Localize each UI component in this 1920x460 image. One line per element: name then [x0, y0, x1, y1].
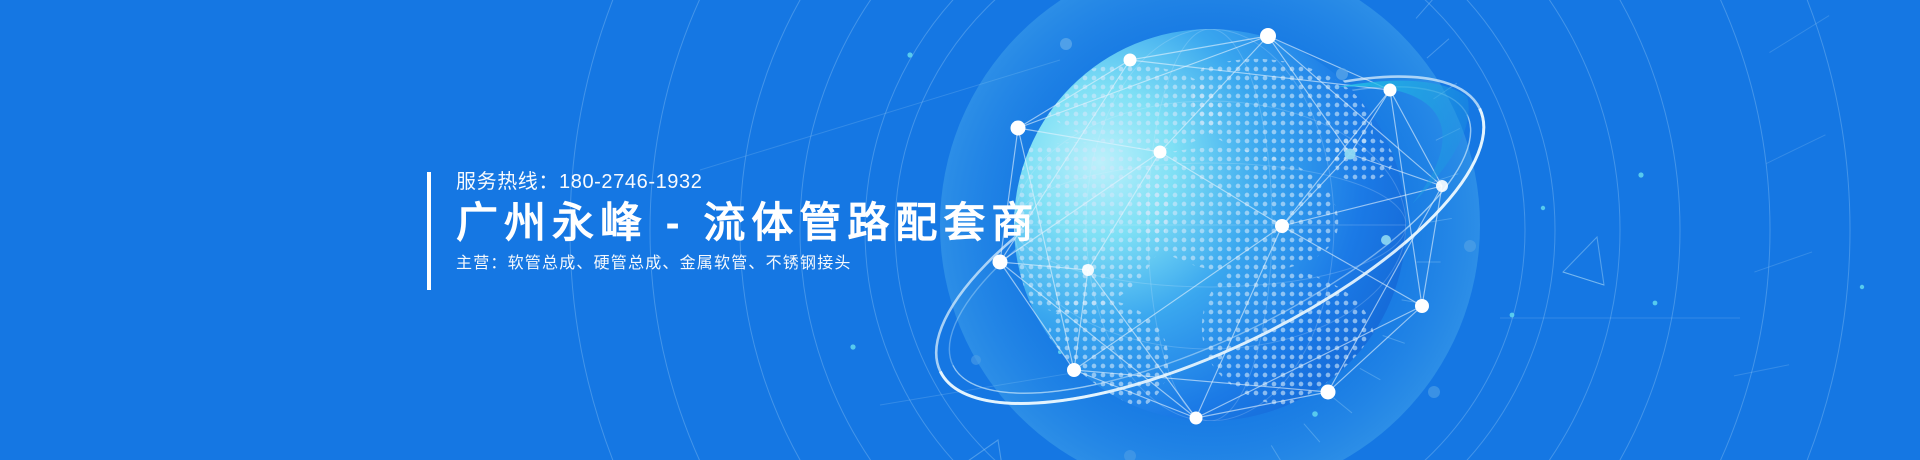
wireframe-triangle — [1043, 150, 1107, 205]
page-title: 广州永峰 - 流体管路配套商 — [456, 202, 1039, 244]
network-mesh-nodes — [971, 28, 1476, 460]
ladder-arc-ticks — [1236, 0, 1460, 460]
globe-graticule — [1014, 29, 1406, 421]
service-hotline: 服务热线：180-2746-1932 — [456, 172, 1039, 192]
company-hero-banner: 服务热线：180-2746-1932 广州永峰 - 流体管路配套商 主营：软管总… — [0, 0, 1920, 460]
hero-text-block: 服务热线：180-2746-1932 广州永峰 - 流体管路配套商 主营：软管总… — [427, 172, 1039, 290]
wireframe-triangle — [955, 440, 1006, 460]
main-products-line: 主营：软管总成、硬管总成、金属软管、不锈钢接头 — [456, 256, 1039, 272]
globe-continents — [998, 59, 1394, 416]
network-mesh-links — [1000, 36, 1442, 418]
outer-ladder-arc-ticks — [1669, 0, 1829, 460]
globe-sphere — [1014, 29, 1406, 421]
wireframe-triangle — [1563, 237, 1604, 285]
